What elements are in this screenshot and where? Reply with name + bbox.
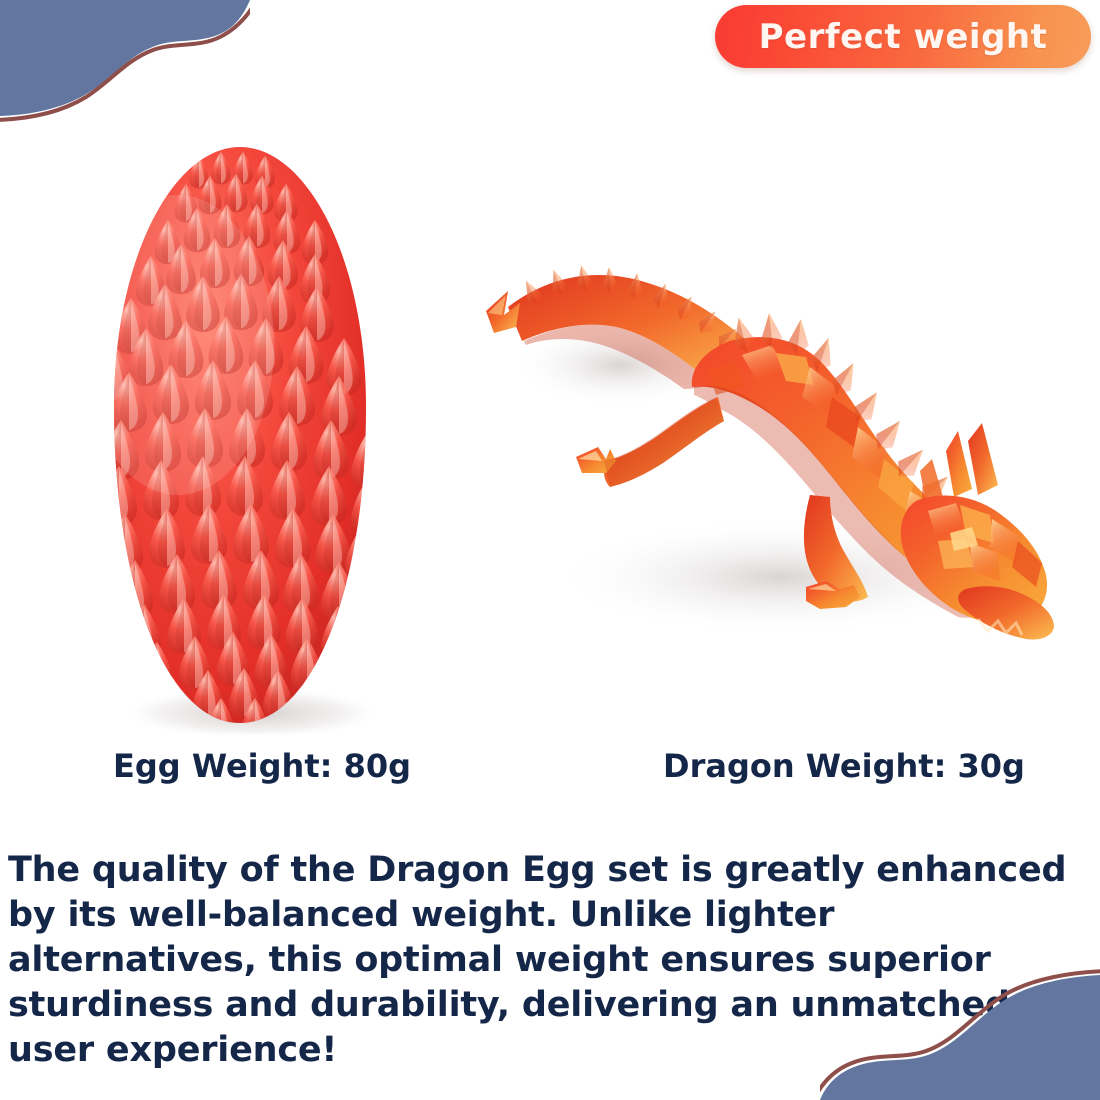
- dragon-horn-lower: [968, 423, 998, 495]
- top-left-wave-svg: [0, 0, 250, 130]
- perfect-weight-badge: Perfect weight: [715, 5, 1091, 68]
- dragon-weight-caption: Dragon Weight: 30g: [663, 747, 1025, 785]
- description-paragraph: The quality of the Dragon Egg set is gre…: [8, 848, 1094, 1073]
- egg-scale-texture: [77, 152, 387, 735]
- dragon-egg-image: [60, 135, 420, 735]
- crystal-dragon-image: [480, 245, 1060, 695]
- wave-accent-line: [0, 8, 250, 120]
- top-left-wave-shape: [0, 0, 250, 130]
- wave-fill: [0, 0, 250, 116]
- crystal-dragon-svg: [480, 245, 1060, 695]
- promo-page: Perfect weight: [0, 0, 1100, 1100]
- dragon-front-leg: [576, 397, 724, 487]
- badge-label: Perfect weight: [759, 17, 1048, 57]
- dragon-egg-svg: [60, 135, 420, 735]
- egg-weight-caption: Egg Weight: 80g: [113, 747, 411, 785]
